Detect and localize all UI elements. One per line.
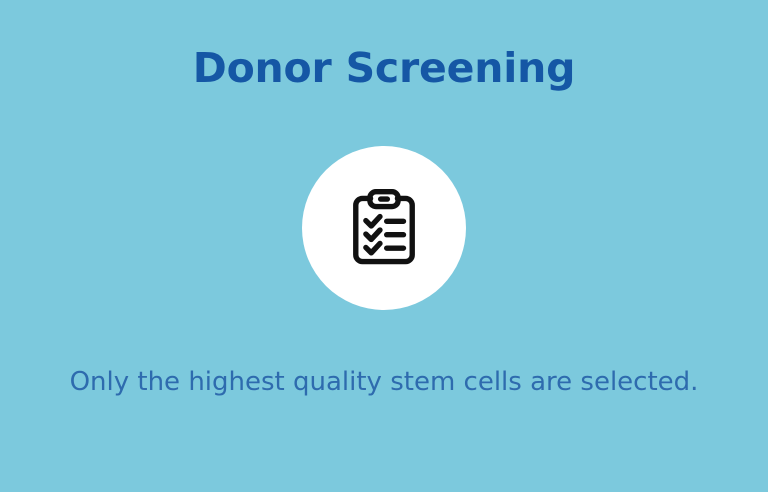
clipboard-checklist-icon xyxy=(341,185,427,271)
icon-badge xyxy=(302,146,466,310)
page-title: Donor Screening xyxy=(0,46,768,92)
card-subtitle: Only the highest quality stem cells are … xyxy=(0,366,768,400)
donor-screening-card: Donor Screening Only the highes xyxy=(0,0,768,492)
